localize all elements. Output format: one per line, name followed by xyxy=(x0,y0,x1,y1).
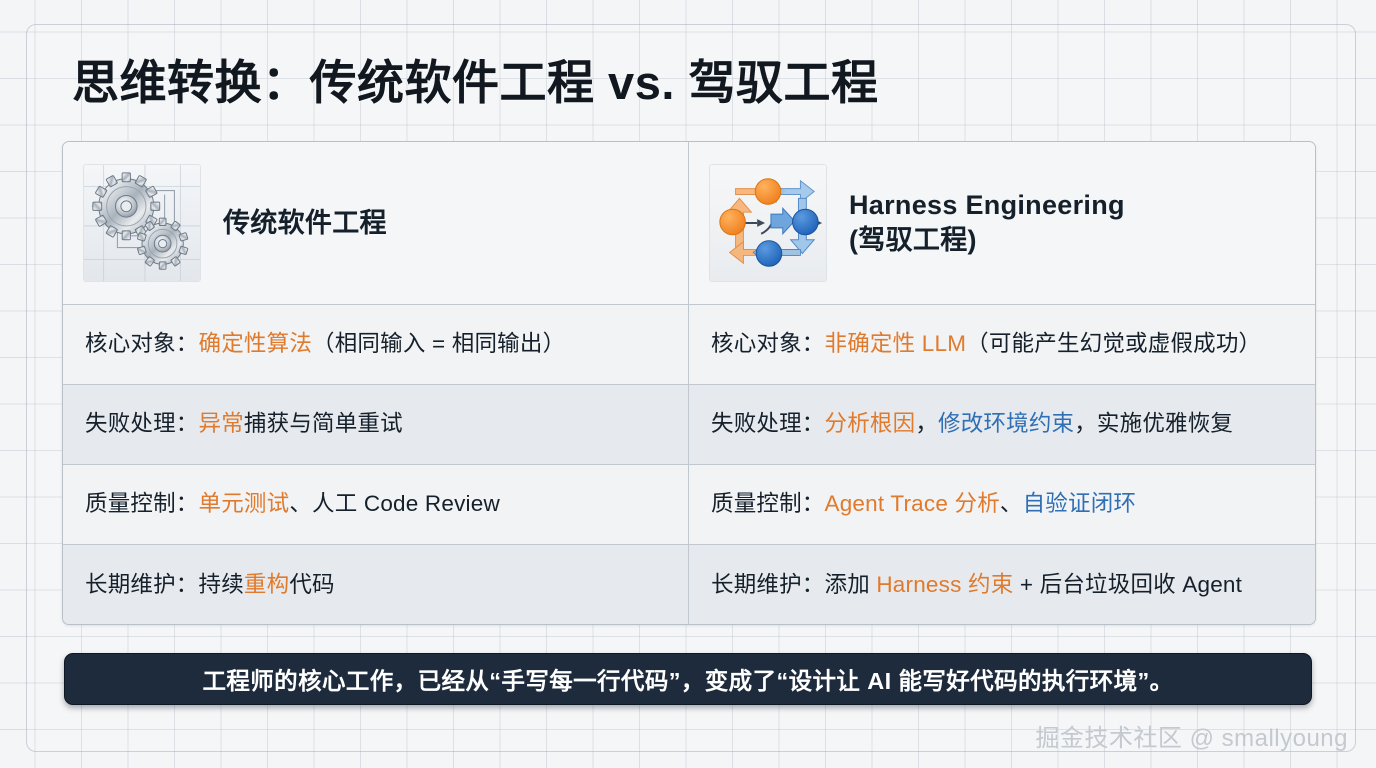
header-label-harness-main: Harness Engineering xyxy=(849,190,1125,220)
watermark: 掘金技术社区 @ smallyoung xyxy=(1035,718,1348,753)
table-row: 质量控制：单元测试、人工 Code Review质量控制：Agent Trace… xyxy=(63,465,1315,545)
cell-text: 长期维护：持续重构代码 xyxy=(85,571,335,599)
header-label-harness: Harness Engineering (驾驭工程) xyxy=(849,188,1125,257)
table-row: 长期维护：持续重构代码长期维护：添加 Harness 约束 + 后台垃圾回收 A… xyxy=(63,545,1315,625)
text-segment: Agent Trace 分析 xyxy=(825,491,1000,516)
gears-icon xyxy=(83,164,201,282)
text-segment: 单元测试 xyxy=(199,491,290,516)
text-segment: （可能产生幻觉或虚假成功） xyxy=(966,331,1261,356)
text-segment: Harness 约束 xyxy=(876,572,1013,597)
cell-text: 核心对象：非确定性 LLM（可能产生幻觉或虚假成功） xyxy=(711,330,1261,358)
comparison-table: 传统软件工程 xyxy=(62,141,1316,625)
text-segment: 异常 xyxy=(199,411,244,436)
callout-banner: 工程师的核心工作，已经从“手写每一行代码”，变成了“设计让 AI 能写好代码的执… xyxy=(64,653,1312,705)
text-segment: 捕获与简单重试 xyxy=(244,411,403,436)
callout-banner-text: 工程师的核心工作，已经从“手写每一行代码”，变成了“设计让 AI 能写好代码的执… xyxy=(202,662,1173,696)
page-title: 思维转换：传统软件工程 vs. 驾驭工程 xyxy=(72,52,878,114)
table-cell-left: 核心对象：确定性算法（相同输入 = 相同输出） xyxy=(63,305,689,384)
text-segment: 核心对象： xyxy=(85,331,199,356)
text-segment: 质量控制： xyxy=(85,491,199,516)
text-segment: 非确定性 LLM xyxy=(825,331,967,356)
text-segment: 失败处理： xyxy=(711,411,825,436)
table-cell-right: 失败处理：分析根因，修改环境约束，实施优雅恢复 xyxy=(689,385,1315,464)
table-row: 核心对象：确定性算法（相同输入 = 相同输出）核心对象：非确定性 LLM（可能产… xyxy=(63,305,1315,385)
table-cell-left: 失败处理：异常捕获与简单重试 xyxy=(63,385,689,464)
slide-root: 思维转换：传统软件工程 vs. 驾驭工程 xyxy=(0,0,1376,768)
text-segment: 、 xyxy=(1000,491,1023,516)
header-label-harness-sub: (驾驭工程) xyxy=(849,223,1125,258)
header-cell-harness: Harness Engineering (驾驭工程) xyxy=(689,142,1315,304)
text-segment: 核心对象： xyxy=(711,331,825,356)
header-cell-traditional: 传统软件工程 xyxy=(63,142,689,304)
text-segment: （相同输入 = 相同输出） xyxy=(312,331,565,356)
text-segment: 失败处理： xyxy=(85,411,199,436)
text-segment: 长期维护：添加 xyxy=(711,572,876,597)
cell-text: 核心对象：确定性算法（相同输入 = 相同输出） xyxy=(85,330,565,358)
table-cell-left: 质量控制：单元测试、人工 Code Review xyxy=(63,465,689,544)
cell-text: 失败处理：异常捕获与简单重试 xyxy=(85,410,403,438)
cell-text: 质量控制：Agent Trace 分析、自验证闭环 xyxy=(711,490,1136,518)
cell-text: 质量控制：单元测试、人工 Code Review xyxy=(85,490,500,518)
table-cell-left: 长期维护：持续重构代码 xyxy=(63,545,689,625)
text-segment: 分析根因 xyxy=(825,411,916,436)
text-segment: ，实施优雅恢复 xyxy=(1074,411,1233,436)
table-body: 核心对象：确定性算法（相同输入 = 相同输出）核心对象：非确定性 LLM（可能产… xyxy=(63,305,1315,625)
text-segment: 修改环境约束 xyxy=(938,411,1074,436)
text-segment: 重构 xyxy=(244,572,289,597)
cell-text: 长期维护：添加 Harness 约束 + 后台垃圾回收 Agent xyxy=(711,571,1242,599)
text-segment: ， xyxy=(915,411,938,436)
text-segment: 质量控制： xyxy=(711,491,825,516)
text-segment: 确定性算法 xyxy=(199,331,313,356)
cell-text: 失败处理：分析根因，修改环境约束，实施优雅恢复 xyxy=(711,410,1233,438)
text-segment: + 后台垃圾回收 Agent xyxy=(1013,572,1242,597)
text-segment: 代码 xyxy=(289,572,334,597)
header-label-traditional: 传统软件工程 xyxy=(223,206,387,241)
table-cell-right: 核心对象：非确定性 LLM（可能产生幻觉或虚假成功） xyxy=(689,305,1315,384)
table-cell-right: 长期维护：添加 Harness 约束 + 后台垃圾回收 Agent xyxy=(689,545,1315,625)
text-segment: 、人工 Code Review xyxy=(289,491,500,516)
table-cell-right: 质量控制：Agent Trace 分析、自验证闭环 xyxy=(689,465,1315,544)
text-segment: 自验证闭环 xyxy=(1023,491,1137,516)
table-row: 失败处理：异常捕获与简单重试失败处理：分析根因，修改环境约束，实施优雅恢复 xyxy=(63,385,1315,465)
text-segment: 长期维护：持续 xyxy=(85,572,244,597)
table-header-row: 传统软件工程 xyxy=(63,142,1315,305)
feedback-loop-icon xyxy=(709,164,827,282)
